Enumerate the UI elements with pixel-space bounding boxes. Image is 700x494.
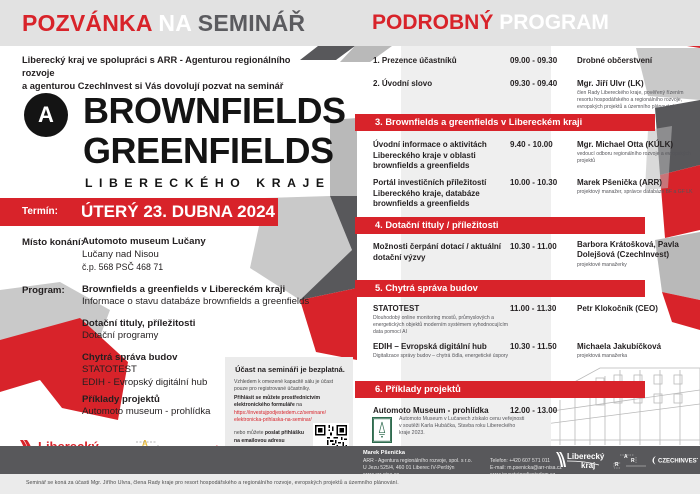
program-row-4-title: Portál investičních příležitostí Liberec… <box>373 178 503 210</box>
program-label: Program: <box>22 285 65 296</box>
program-row-6-title: Možnosti čerpání dotací / aktuální dotač… <box>373 242 503 263</box>
program-item-2-sub: STATOTEST EDIH - Evropský digitální hub <box>82 364 207 389</box>
award-badge-icon <box>372 417 392 443</box>
program-row-8-name: Petr Klokočník (CEO) <box>577 304 699 314</box>
invitation-title-part2: NA <box>158 10 191 36</box>
registration-form-tail: na <box>295 402 302 408</box>
program-section-4: 4. Dotační tituly / příležitosti <box>355 217 645 234</box>
program-row-9-title: EDIH – Evropská digitální hub <box>373 342 518 353</box>
event-title-brownfields: BROWNFIELDS <box>83 93 345 129</box>
term-value: ÚTERÝ 23. DUBNA 2024 <box>81 202 275 222</box>
program-row-0-name: Drobné občerstvení <box>577 56 699 66</box>
footer-arr-logo: A R R <box>612 452 652 469</box>
program-row-6-name: Barbora Krátošková, Pavla Dolejšová (Cze… <box>577 240 699 261</box>
intro-line-1: Liberecký kraj ve spolupráci s ARR - Age… <box>22 54 322 80</box>
program-item-1-title: Dotační tituly, příležitosti <box>82 318 195 331</box>
invitation-title: POZVÁNKA NA SEMINÁŘ <box>22 10 305 36</box>
event-subtitle: LIBERECKÉHO KRAJE <box>85 176 331 190</box>
program-row-3-title: Úvodní informace o aktivitách Libereckéh… <box>373 140 503 172</box>
footer-contact-name: Marek Pšenička <box>363 450 405 456</box>
program-item-0-title: Brownfields a greenfields v Libereckém k… <box>82 284 285 297</box>
venue-line-1: Automoto museum Lučany <box>82 236 206 249</box>
registration-note: Vzhledem k omezené kapacitě sálu je účas… <box>234 379 344 393</box>
program-row-1-title: 2. Úvodní slovo <box>373 79 503 90</box>
program-section-5-label: 5. Chytrá správa budov <box>375 283 478 293</box>
logo-badge-a: A <box>24 93 68 137</box>
program-section-3: 3. Brownfields a greenfields v Liberecké… <box>355 114 655 131</box>
program-item-3-title: Příklady projektů <box>82 394 160 407</box>
program-section-4-label: 4. Dotační tituly / příležitosti <box>375 220 498 230</box>
intro-text: Liberecký kraj ve spolupráci s ARR - Age… <box>22 54 322 94</box>
registration-form-note: Přihlásit se můžete prostřednictvím elek… <box>234 395 344 409</box>
program-row-9-desc: projektová manažerka <box>577 353 697 360</box>
program-row-4-desc: projektový manažer, správce databáze BF … <box>577 189 697 196</box>
event-title-greenfields: GREENFIELDS <box>83 133 334 169</box>
program-item-1-sub: Dotační programy <box>82 330 158 343</box>
program-table: 1. Prezence účastníků 09.00 - 09.30 Drob… <box>355 46 700 446</box>
program-row-1-name: Mgr. Jiří Ulvr (LK) <box>577 79 699 89</box>
poster: POZVÁNKA NA SEMINÁŘ Liberecký kraj ve sp… <box>0 0 700 494</box>
footer-strip-text: Seminář se koná za účasti Mgr. Jiřího Ul… <box>26 480 399 486</box>
svg-text:Liberecký: Liberecký <box>567 452 605 461</box>
program-row-8-title: STATOTEST <box>373 304 503 315</box>
invitation-title-part3: SEMINÁŘ <box>198 10 305 36</box>
program-row-3-name: Mgr. Michael Otta (KÚLK) <box>577 140 699 150</box>
program-item-0-sub: Informace o stavu databáze brownfields a… <box>82 296 309 309</box>
footer-liberecky-kraj-logo: Liberecký kraj <box>555 450 613 470</box>
program-section-3-label: 3. Brownfields a greenfields v Liberecké… <box>375 117 582 127</box>
venue-line-2: Lučany nad Nisou <box>82 249 159 262</box>
registration-alt-bold: poslat přihlášku <box>265 430 304 436</box>
program-row-9-name: Michaela Jakubíčková <box>577 342 699 352</box>
left-panel: POZVÁNKA NA SEMINÁŘ Liberecký kraj ve sp… <box>0 0 355 494</box>
project-award-note: Automoto Museum v Lučanech získalo cenu … <box>399 416 527 438</box>
svg-text:CZECHINVEST: CZECHINVEST <box>658 459 698 465</box>
program-header-title: PODROBNÝ PROGRAM <box>372 11 609 35</box>
program-row-0-title: 1. Prezence účastníků <box>373 56 503 67</box>
program-header-part1: PODROBNÝ <box>372 11 493 34</box>
registration-alt-note: nebo můžete poslat přihlášku <box>234 430 312 437</box>
invitation-title-part1: POZVÁNKA <box>22 10 152 36</box>
program-header-part2: PROGRAM <box>499 11 609 34</box>
venue-label: Místo konání: <box>22 237 84 248</box>
program-row-3-desc: vedoucí odboru regionálního rozvoje a ev… <box>577 151 697 165</box>
program-row-9-sub: Digitalizace správy budov – chytrá čidla… <box>373 353 509 360</box>
program-row-11-time: 12.00 - 13.00 <box>510 406 590 415</box>
program-row-8-sub: Dlouhodobý online monitoring mostů, prům… <box>373 315 509 335</box>
footer-strip: Seminář se koná za účasti Mgr. Jiřího Ul… <box>0 474 700 494</box>
venue-line-3: č.p. 568 PSČ 468 71 <box>82 261 163 274</box>
registration-form-bold: Přihlásit se můžete prostřednictvím elek… <box>234 395 320 408</box>
program-item-2-title: Chytrá správa budov <box>82 352 177 365</box>
program-item-3-sub: Automoto museum - prohlídka <box>82 406 211 419</box>
program-row-11-title: Automoto Museum - prohlídka <box>373 406 518 417</box>
program-section-6: 6. Příklady projektů <box>355 381 645 398</box>
registration-alt-text: nebo můžete <box>234 430 265 436</box>
footer-czechinvest-logo: CZECHINVEST <box>650 455 698 465</box>
program-row-6-desc: projektové manažerky <box>577 262 697 269</box>
right-panel: PODROBNÝ PROGRAM 1. Prezence účastníků 0… <box>355 0 700 494</box>
term-label: Termín: <box>22 206 58 217</box>
registration-title: Účast na semináři je bezplatná. <box>234 365 346 374</box>
program-row-4-name: Marek Pšenička (ARR) <box>577 178 699 188</box>
program-row-1-desc: člen Rady Libereckého kraje, pověřený ří… <box>577 90 697 110</box>
svg-text:R: R <box>631 458 635 464</box>
program-section-6-label: 6. Příklady projektů <box>375 384 461 394</box>
program-section-5: 5. Chytrá správa budov <box>355 280 645 297</box>
